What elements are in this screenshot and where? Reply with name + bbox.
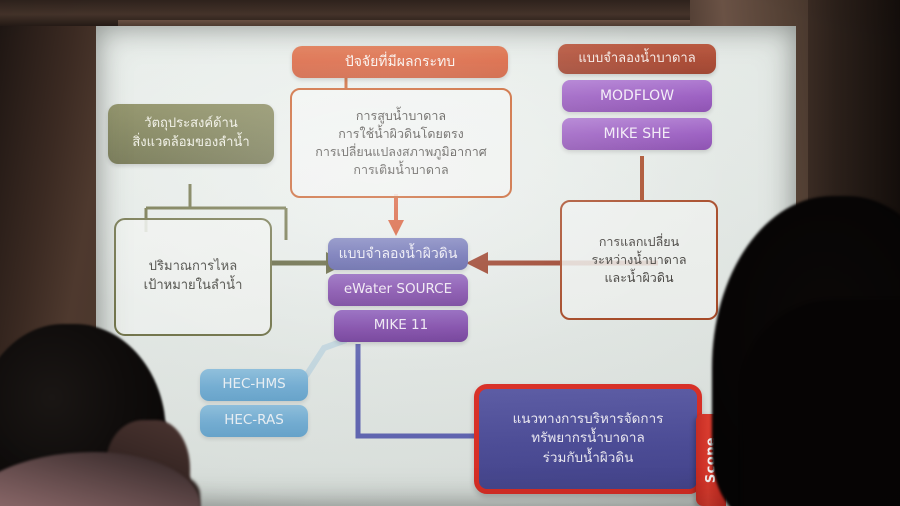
hec-chip-hms[interactable]: HEC-HMS	[200, 369, 308, 401]
model-chip-ewater-source-label: eWater SOURCE	[328, 280, 468, 300]
outcome-line-1: แนวทางการบริหารจัดการ	[487, 410, 689, 430]
outcome-line-3: ร่วมกับน้ำผิวดิน	[487, 449, 689, 469]
impact-factors-title-label: ปัจจัยที่มีผลกระทบ	[292, 52, 508, 72]
target-flow-line-2: เป้าหมายในลำน้ำ	[122, 277, 264, 296]
impact-factors-box[interactable]: การสูบน้ำบาดาล การใช้น้ำผิวดินโดยตรง การ…	[290, 88, 512, 198]
environment-objective-box[interactable]: วัตถุประสงค์ด้าน สิ่งแวดล้อมของลำน้ำ	[108, 104, 274, 164]
impact-factors-title[interactable]: ปัจจัยที่มีผลกระทบ	[292, 46, 508, 78]
target-flow-box[interactable]: ปริมาณการไหล เป้าหมายในลำน้ำ	[114, 218, 272, 336]
surfacewater-model-header[interactable]: แบบจำลองน้ำผิวดิน	[328, 238, 468, 270]
hec-chip-hms-label: HEC-HMS	[200, 375, 308, 395]
outcome-line-2: ทรัพยากรน้ำบาดาล	[487, 429, 689, 449]
model-chip-mike-11-label: MIKE 11	[334, 316, 468, 336]
groundwater-model-header[interactable]: แบบจำลองน้ำบาดาล	[558, 44, 716, 74]
factor-line-4: การเติมน้ำบาดาล	[298, 161, 504, 179]
groundwater-model-header-label: แบบจำลองน้ำบาดาล	[558, 50, 716, 69]
model-chip-modflow[interactable]: MODFLOW	[562, 80, 712, 112]
model-chip-mike-she[interactable]: MIKE SHE	[562, 118, 712, 150]
factor-line-3: การเปลี่ยนแปลงสภาพภูมิอากาศ	[298, 143, 504, 161]
model-chip-ewater-source[interactable]: eWater SOURCE	[328, 274, 468, 306]
model-chip-mike-11[interactable]: MIKE 11	[334, 310, 468, 342]
exchange-line-1: การแลกเปลี่ยน	[568, 233, 710, 251]
target-flow-line-1: ปริมาณการไหล	[122, 258, 264, 277]
hec-chip-ras-label: HEC-RAS	[200, 411, 308, 431]
model-chip-modflow-label: MODFLOW	[562, 86, 712, 106]
environment-objective-line-2: สิ่งแวดล้อมของลำน้ำ	[114, 134, 268, 153]
audience-silhouette-right-shoulder	[742, 300, 900, 506]
exchange-line-3: และน้ำผิวดิน	[568, 269, 710, 287]
model-chip-mike-she-label: MIKE SHE	[562, 124, 712, 144]
exchange-box[interactable]: การแลกเปลี่ยน ระหว่างน้ำบาดาล และน้ำผิวด…	[560, 200, 718, 320]
projector-screen: ปัจจัยที่มีผลกระทบ การสูบน้ำบาดาล การใช้…	[96, 26, 796, 506]
presentation-photo: ปัจจัยที่มีผลกระทบ การสูบน้ำบาดาล การใช้…	[0, 0, 900, 506]
exchange-line-2: ระหว่างน้ำบาดาล	[568, 251, 710, 269]
environment-objective-line-1: วัตถุประสงค์ด้าน	[114, 115, 268, 134]
factor-line-1: การสูบน้ำบาดาล	[298, 107, 504, 125]
hec-chip-ras[interactable]: HEC-RAS	[200, 405, 308, 437]
surfacewater-model-header-label: แบบจำลองน้ำผิวดิน	[328, 244, 468, 264]
factor-line-2: การใช้น้ำผิวดินโดยตรง	[298, 125, 504, 143]
outcome-box[interactable]: แนวทางการบริหารจัดการ ทรัพยากรน้ำบาดาล ร…	[474, 384, 702, 494]
diagram-stage: ปัจจัยที่มีผลกระทบ การสูบน้ำบาดาล การใช้…	[96, 26, 796, 506]
